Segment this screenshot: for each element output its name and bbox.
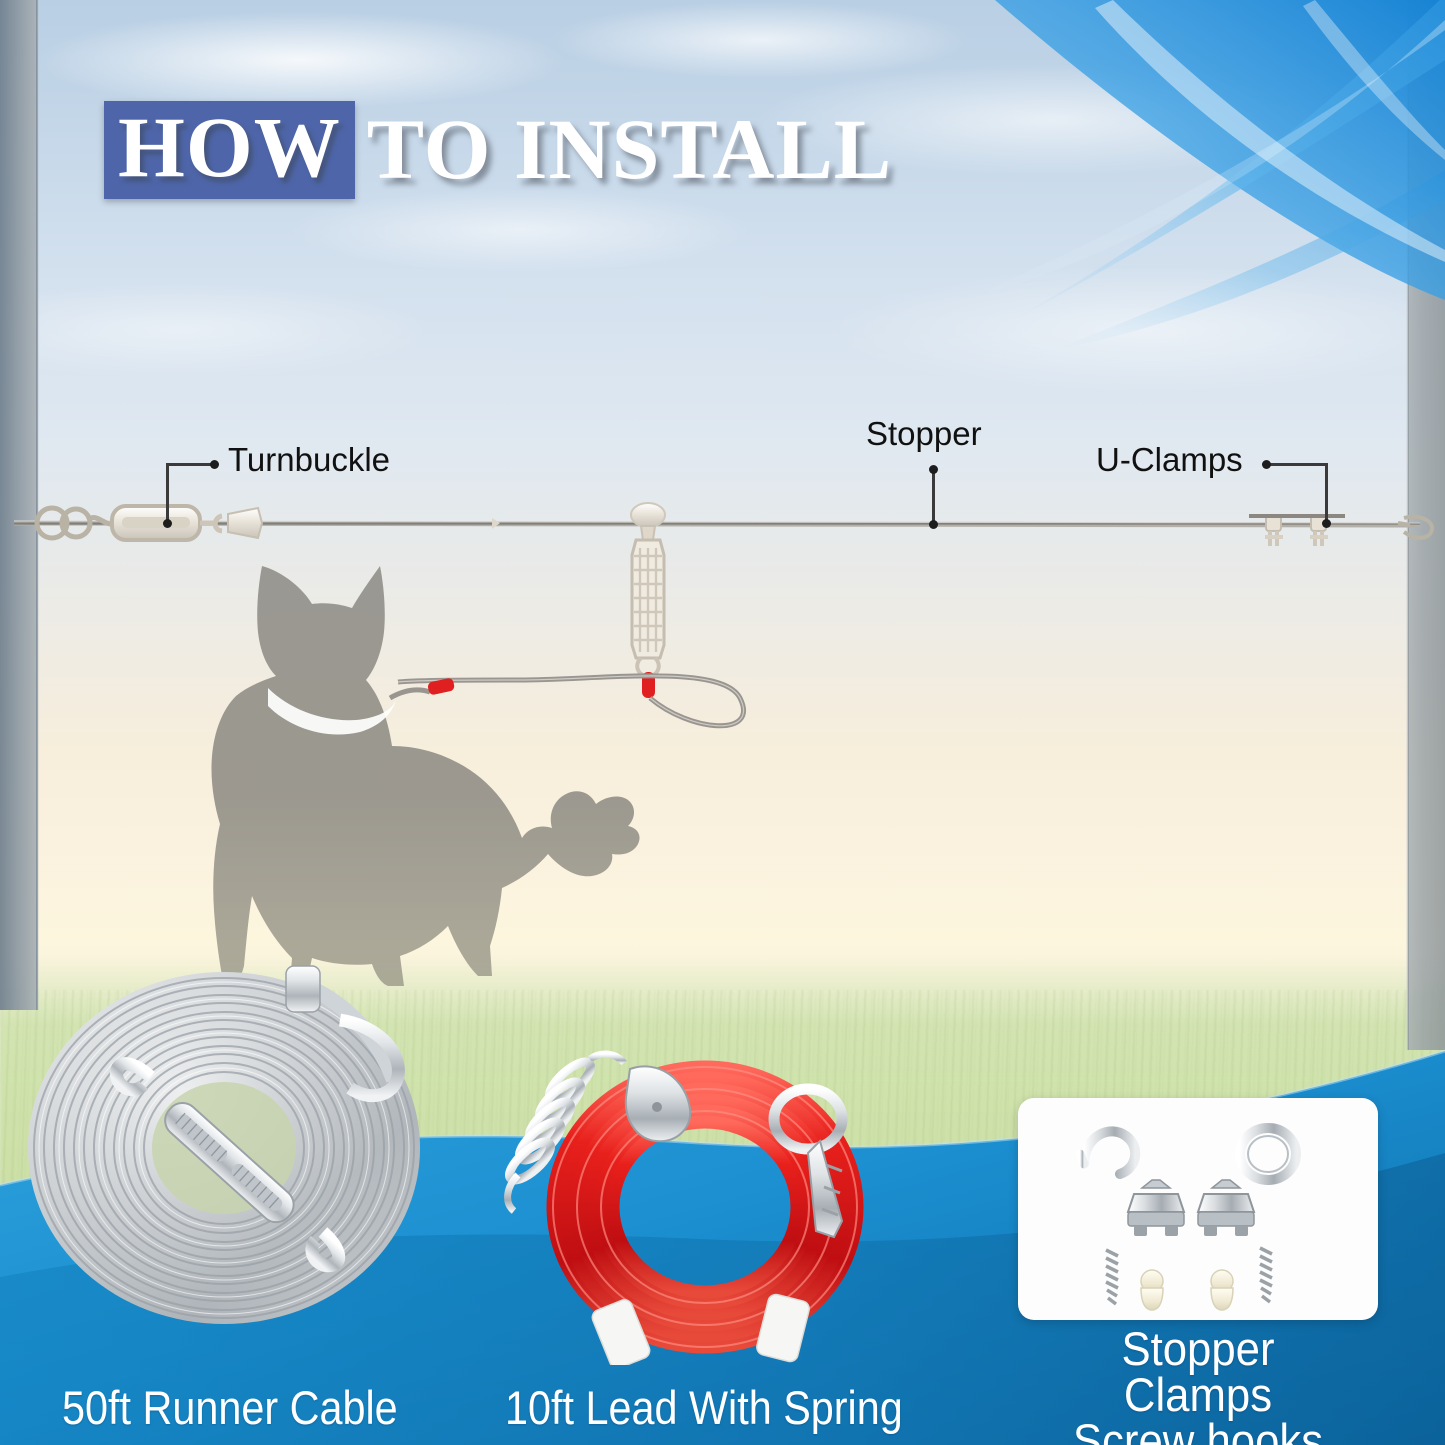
turnbuckle-slot (122, 517, 190, 528)
infographic-root: HOW TO INSTALL (0, 0, 1445, 1445)
stopper-leader-dot-target (929, 520, 938, 529)
page-title: HOW TO INSTALL (104, 95, 892, 205)
u-clamp-icon-2 (1198, 1180, 1254, 1266)
u-clamp-left (1265, 516, 1283, 546)
caption-hardware-kit: Stopper Clamps Screw hooks (1018, 1326, 1378, 1445)
uclamps-leader-dot-label (1262, 460, 1271, 469)
dog-silhouette (211, 566, 639, 986)
stopper-leader-vertical (932, 468, 935, 526)
caption-runner-cable: 50ft Runner Cable (62, 1380, 398, 1435)
title-rest-text: TO INSTALL (367, 109, 892, 191)
label-turnbuckle: Turnbuckle (228, 441, 390, 479)
blue-swoosh-decoration (845, 0, 1445, 420)
hardware-kit-card (1018, 1098, 1378, 1320)
uclamps-leader-vertical (1325, 463, 1328, 525)
screw-hook-open-icon (1080, 1131, 1135, 1312)
caption-hardware-line-1: Stopper (1031, 1326, 1366, 1372)
turnbuckle-leader-dot-label (210, 460, 219, 469)
stopper-leader-dot-label (929, 465, 938, 474)
cable-ferrule (286, 966, 320, 1012)
uclamps-leader-horizontal (1266, 463, 1328, 466)
rubber-stopper-icon-2 (1211, 1270, 1233, 1310)
title-highlight-box: HOW (104, 101, 355, 199)
label-u-clamps: U-Clamps (1096, 441, 1243, 479)
title-highlight-text: HOW (118, 107, 341, 189)
u-clamp-icon-1 (1128, 1180, 1184, 1266)
runner-cable-line (14, 521, 1420, 525)
uclamps-leader-dot-target (1322, 519, 1331, 528)
hardware-kit-illustration (1018, 1098, 1378, 1320)
caption-hardware-line-3: Screw hooks (1031, 1418, 1366, 1445)
cable-nub (492, 518, 500, 529)
pulley-assembly (631, 503, 665, 698)
turnbuckle-leader-horizontal (166, 463, 214, 466)
turnbuckle-leader-dot-target (163, 519, 172, 528)
product-runner-cable (10, 960, 440, 1350)
turnbuckle-leader-vertical (166, 463, 169, 525)
cable-thimble (228, 508, 262, 538)
label-stopper: Stopper (866, 415, 982, 453)
rubber-stopper-icon-1 (1141, 1270, 1163, 1310)
caption-hardware-line-2: Clamps (1031, 1372, 1366, 1418)
product-lead-with-spring (490, 1045, 910, 1365)
caption-lead-spring: 10ft Lead With Spring (505, 1380, 903, 1435)
